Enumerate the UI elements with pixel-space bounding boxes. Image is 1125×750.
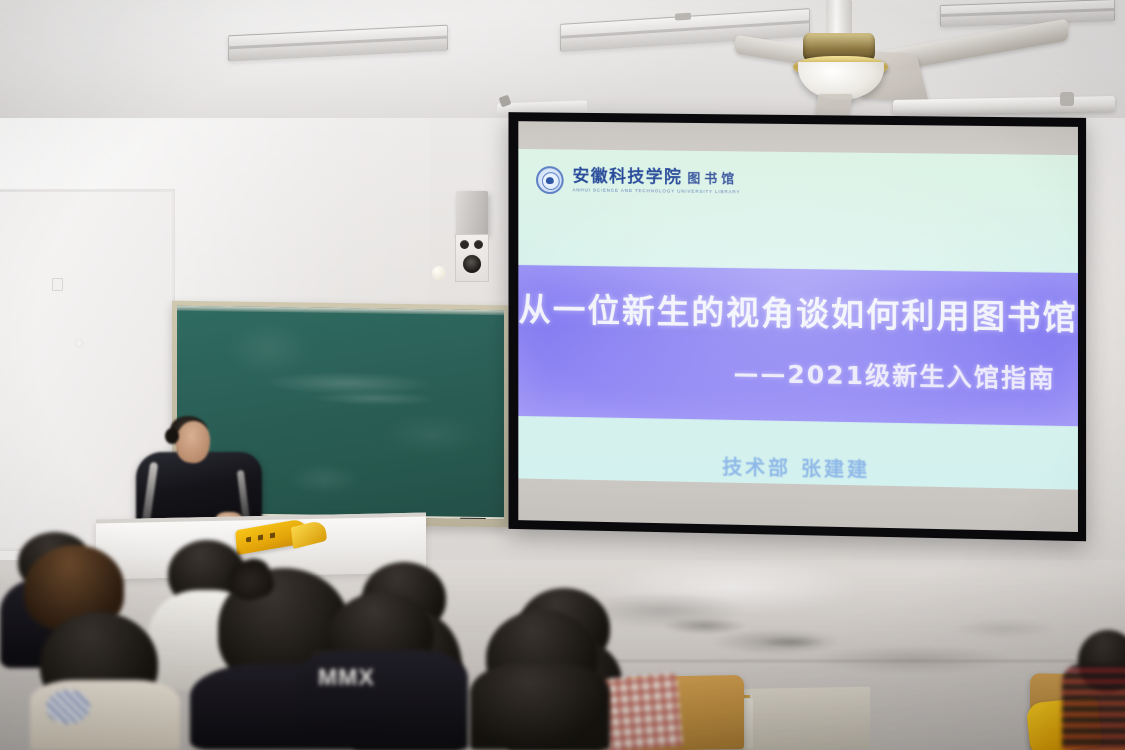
presenter-hair-bun (165, 428, 179, 444)
logo-university-name: 安徽科技学院图书馆 (573, 169, 741, 189)
jacket-text: MMX (318, 664, 436, 690)
student-plaid-top (1062, 664, 1125, 750)
outlet-round-socket[interactable] (461, 253, 483, 275)
fixture-tube (561, 20, 809, 39)
wall-knob (432, 266, 446, 280)
classroom-photo-scene: 安徽科技学院图书馆 ANHUI SCIENCE AND TECHNOLOGY U… (0, 0, 1125, 750)
wall-speaker-box (456, 191, 488, 235)
outlet-socket-left[interactable] (460, 240, 469, 249)
slide-subtitle: ——2021级新生入馆指南 (734, 354, 1056, 396)
logo-unit-cn: 图书馆 (687, 172, 738, 188)
wall-stain-texture (600, 590, 1020, 680)
logo-name-cn: 安徽科技学院 (573, 167, 683, 188)
light-switch-icon[interactable] (52, 278, 63, 291)
fixture-tube (229, 36, 447, 50)
slide-content: 安徽科技学院图书馆 ANHUI SCIENCE AND TECHNOLOGY U… (518, 149, 1078, 490)
logo-text-block: 安徽科技学院图书馆 ANHUI SCIENCE AND TECHNOLOGY U… (573, 169, 741, 195)
student-hair-fall (470, 664, 610, 750)
screen-roller-bracket-right (1060, 92, 1074, 106)
slide-title-band: 从一位新生的视角谈如何利用图书馆 ——2021级新生入馆指南 (518, 264, 1078, 427)
slide-title: 从一位新生的视角谈如何利用图书馆 (518, 283, 1078, 340)
logo-university-name-en: ANHUI SCIENCE AND TECHNOLOGY UNIVERSITY … (573, 187, 741, 194)
screen-surface: 安徽科技学院图书馆 ANHUI SCIENCE AND TECHNOLOGY U… (518, 121, 1078, 532)
outlet-socket-right[interactable] (474, 240, 483, 249)
library-logo: 安徽科技学院图书馆 ANHUI SCIENCE AND TECHNOLOGY U… (536, 166, 740, 196)
wall-fixture-dot (76, 340, 82, 346)
fixture-mount (675, 13, 691, 21)
university-seal-icon (536, 166, 564, 194)
projection-screen[interactable]: 安徽科技学院图书馆 ANHUI SCIENCE AND TECHNOLOGY U… (508, 112, 1086, 541)
fixture-tube (941, 8, 1114, 17)
blackboard-eraser[interactable] (460, 518, 486, 520)
hair-scrunchie (46, 690, 90, 724)
